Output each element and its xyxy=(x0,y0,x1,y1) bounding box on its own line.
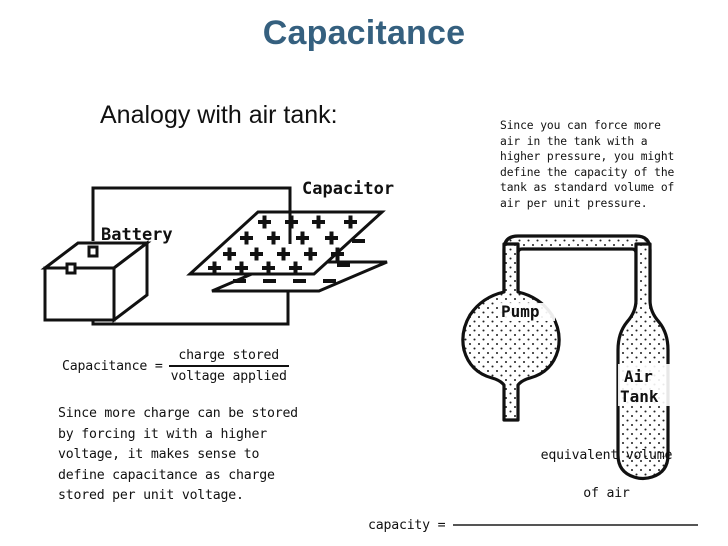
air-tank-label-line2: Tank xyxy=(620,387,659,406)
air-tank-label-line1: Air xyxy=(624,367,653,386)
battery-capacitor-circuit: Battery Capacitor xyxy=(45,179,394,324)
capacitance-equation: Capacitance = charge stored voltage appl… xyxy=(62,347,289,385)
capacitor-label: Capacitor xyxy=(302,179,394,199)
slide-canvas: Capacitance Analogy with air tank: xyxy=(0,0,728,546)
capacity-numerator-line1: equivalent volume xyxy=(541,448,673,463)
capacity-fraction: equivalent volume of air pressure applie… xyxy=(453,427,697,546)
capacity-equation: capacity = equivalent volume of air pres… xyxy=(368,427,698,546)
capacity-denominator: pressure applied to force air into tank xyxy=(453,526,697,546)
capacitance-explanation: Since more charge can be stored by forci… xyxy=(58,404,298,507)
capacity-numerator: equivalent volume of air xyxy=(473,427,679,524)
pump-body xyxy=(463,244,559,420)
capacity-numerator-line2: of air xyxy=(583,486,629,501)
air-tank-explanation: Since you can force more air in the tank… xyxy=(500,118,674,212)
battery-label: Battery xyxy=(101,225,173,245)
capacitance-numerator: charge stored xyxy=(176,347,281,365)
connecting-pipe xyxy=(504,236,650,300)
capacity-equation-lhs: capacity = xyxy=(368,516,445,535)
capacitance-equation-lhs: Capacitance = xyxy=(62,358,163,375)
pump-label: Pump xyxy=(501,302,540,321)
capacitance-denominator: voltage applied xyxy=(169,367,289,385)
capacitance-fraction: charge stored voltage applied xyxy=(169,347,289,385)
